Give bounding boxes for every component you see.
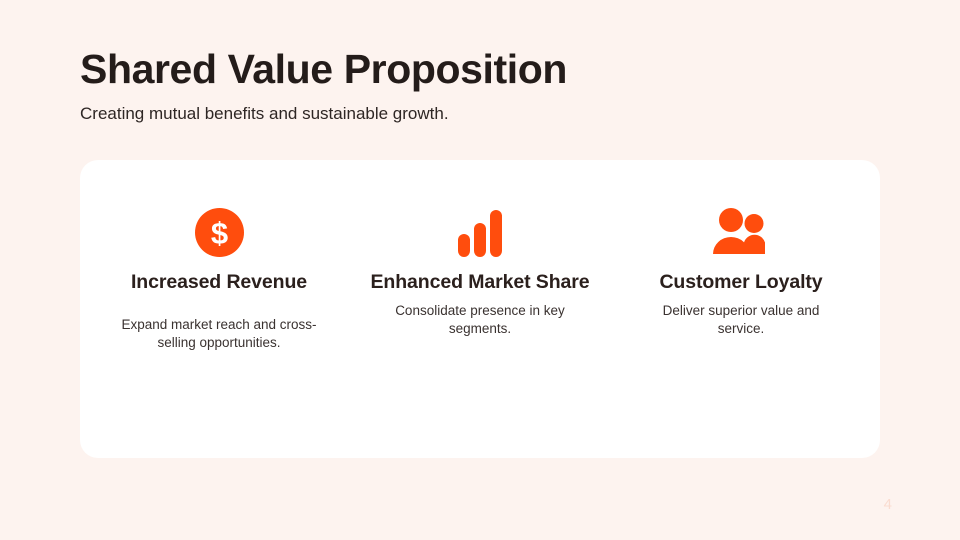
bar-chart-icon (457, 204, 503, 260)
svg-text:$: $ (210, 215, 227, 250)
feature-body: Consolidate presence in key segments. (378, 302, 583, 337)
feature-enhanced-market-share: Enhanced Market Share Consolidate presen… (367, 204, 593, 337)
feature-customer-loyalty: Customer Loyalty Deliver superior value … (628, 204, 854, 337)
feature-heading: Customer Loyalty (659, 270, 822, 294)
page-title: Shared Value Proposition (80, 46, 567, 93)
feature-heading: Enhanced Market Share (371, 270, 590, 294)
feature-heading: Increased Revenue (131, 270, 307, 294)
page-subtitle: Creating mutual benefits and sustainable… (80, 103, 449, 126)
feature-body: Deliver superior value and service. (639, 302, 844, 337)
dollar-circle-icon: $ (195, 204, 244, 260)
feature-body: Expand market reach and cross-selling op… (117, 316, 322, 351)
slide: Shared Value Proposition Creating mutual… (0, 0, 960, 540)
features-card: $ Increased Revenue Expand market reach … (80, 160, 880, 458)
feature-increased-revenue: $ Increased Revenue Expand market reach … (106, 204, 332, 351)
users-icon (712, 204, 770, 260)
page-number: 4 (884, 497, 892, 512)
